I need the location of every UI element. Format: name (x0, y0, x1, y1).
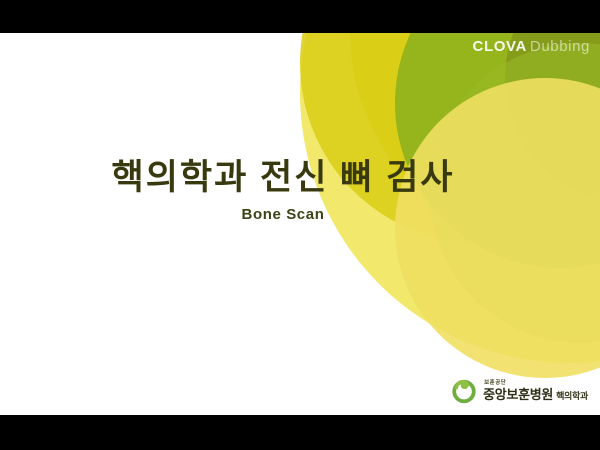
page-title: 핵의학과 전신 뼈 검사 (0, 158, 600, 197)
circular-ring-logo-icon (451, 378, 477, 404)
presentation-slide-screenshot: CLOVADubbing 핵의학과 전신 뼈 검사 Bone Scan 보훈공단… (0, 0, 600, 450)
title-block: 핵의학과 전신 뼈 검사 Bone Scan (0, 158, 600, 223)
slide-canvas: CLOVADubbing 핵의학과 전신 뼈 검사 Bone Scan 보훈공단… (0, 33, 600, 415)
hospital-logo-text: 보훈공단 중앙보훈병원 핵의학과 (483, 381, 588, 401)
logo-department-name: 핵의학과 (556, 392, 588, 401)
logo-name-row: 중앙보훈병원 핵의학과 (483, 388, 588, 401)
letterbox-bar-bottom (0, 415, 600, 450)
watermark-product-label: Dubbing (530, 38, 590, 55)
logo-tagline: 보훈공단 (484, 381, 588, 387)
hospital-logo: 보훈공단 중앙보훈병원 핵의학과 (451, 378, 588, 404)
letterbox-bar-top (0, 0, 600, 33)
logo-hospital-name: 중앙보훈병원 (483, 388, 553, 401)
page-subtitle: Bone Scan (0, 206, 600, 223)
clova-dubbing-watermark: CLOVADubbing (473, 38, 590, 55)
watermark-brand-label: CLOVA (473, 38, 527, 55)
